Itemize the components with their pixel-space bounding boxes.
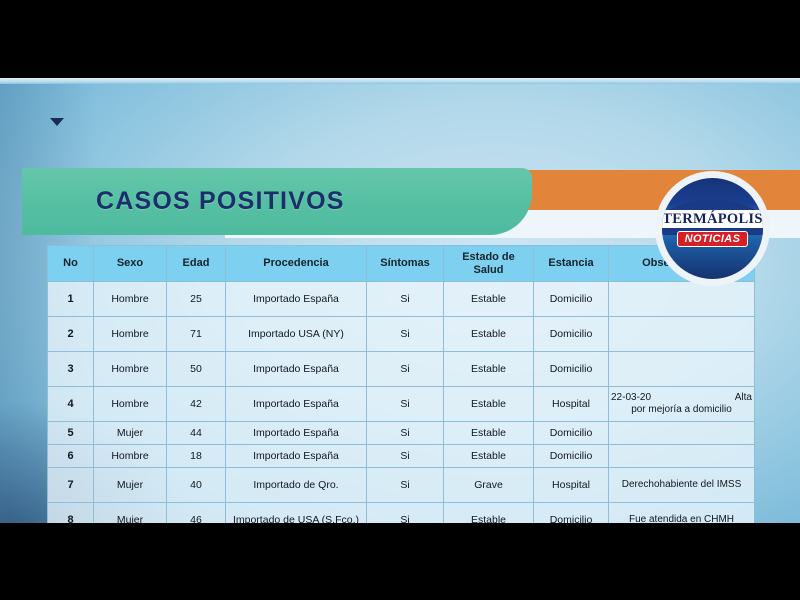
column-header-estado-salud: Estado de Salud — [444, 246, 534, 282]
cell-procedencia: Importado de USA (S.Fco.) — [226, 503, 367, 524]
logo-disc: TERMÁPOLIS NOTICIAS — [662, 178, 763, 279]
table-row: 1Hombre25Importado EspañaSiEstableDomici… — [48, 282, 755, 317]
cell-sintomas: Si — [367, 282, 444, 317]
cell-observaciones — [609, 352, 755, 387]
cell-edad: 40 — [167, 468, 226, 503]
cell-estado-salud: Estable — [444, 503, 534, 524]
cell-sexo: Hombre — [94, 387, 167, 422]
cell-observaciones: 22-03-20Altapor mejoría a domicilio — [609, 387, 755, 422]
cell-edad: 50 — [167, 352, 226, 387]
cell-estado-salud: Estable — [444, 352, 534, 387]
cell-observaciones — [609, 282, 755, 317]
cell-edad: 46 — [167, 503, 226, 524]
cases-table: No Sexo Edad Procedencia Síntomas Estado… — [47, 245, 755, 523]
cell-procedencia: Importado España — [226, 422, 367, 445]
cases-table-body: 1Hombre25Importado EspañaSiEstableDomici… — [48, 282, 755, 524]
table-header-row: No Sexo Edad Procedencia Síntomas Estado… — [48, 246, 755, 282]
cell-sintomas: Si — [367, 445, 444, 468]
cell-estancia: Domicilio — [534, 352, 609, 387]
cell-sexo: Mujer — [94, 422, 167, 445]
cell-no: 7 — [48, 468, 94, 503]
tv-screen: CASOS POSITIVOS No Sexo Edad Procedencia… — [0, 0, 800, 600]
cell-estado-salud: Grave — [444, 468, 534, 503]
observacion-status: Alta — [735, 392, 752, 404]
cell-procedencia: Importado USA (NY) — [226, 317, 367, 352]
slide-title-banner: CASOS POSITIVOS — [22, 168, 532, 235]
table-row: 6Hombre18Importado EspañaSiEstableDomici… — [48, 445, 755, 468]
cases-table-container: No Sexo Edad Procedencia Síntomas Estado… — [47, 245, 754, 523]
cell-sexo: Mujer — [94, 503, 167, 524]
cell-no: 1 — [48, 282, 94, 317]
cell-sintomas: Si — [367, 387, 444, 422]
cell-procedencia: Importado España — [226, 282, 367, 317]
observacion-date: 22-03-20 — [611, 392, 651, 404]
column-header-edad: Edad — [167, 246, 226, 282]
cell-observaciones — [609, 317, 755, 352]
cell-sintomas: Si — [367, 422, 444, 445]
cell-no: 6 — [48, 445, 94, 468]
cell-estancia: Hospital — [534, 468, 609, 503]
column-header-no: No — [48, 246, 94, 282]
logo-tagline-text: NOTICIAS — [677, 231, 749, 247]
column-header-procedencia: Procedencia — [226, 246, 367, 282]
cell-sexo: Hombre — [94, 282, 167, 317]
cell-sintomas: Si — [367, 503, 444, 524]
termapolis-logo: TERMÁPOLIS NOTICIAS — [655, 171, 770, 286]
cell-no: 4 — [48, 387, 94, 422]
table-row: 2Hombre71Importado USA (NY)SiEstableDomi… — [48, 317, 755, 352]
cell-sexo: Hombre — [94, 352, 167, 387]
cell-estancia: Domicilio — [534, 282, 609, 317]
cell-procedencia: Importado de Qro. — [226, 468, 367, 503]
contigo-bug-tail — [50, 118, 64, 126]
cell-edad: 18 — [167, 445, 226, 468]
column-header-sintomas: Síntomas — [367, 246, 444, 282]
cell-estancia: Hospital — [534, 387, 609, 422]
cell-observaciones — [609, 422, 755, 445]
cell-no: 8 — [48, 503, 94, 524]
table-row: 4Hombre42Importado EspañaSiEstableHospit… — [48, 387, 755, 422]
observacion-line-1: 22-03-20Alta — [611, 392, 752, 404]
cell-sexo: Mujer — [94, 468, 167, 503]
letterbox-bottom — [0, 523, 800, 600]
cell-edad: 44 — [167, 422, 226, 445]
cell-estado-salud: Estable — [444, 317, 534, 352]
cell-procedencia: Importado España — [226, 352, 367, 387]
cell-edad: 71 — [167, 317, 226, 352]
column-header-estancia: Estancia — [534, 246, 609, 282]
cell-sintomas: Si — [367, 352, 444, 387]
cell-estancia: Domicilio — [534, 317, 609, 352]
cell-no: 2 — [48, 317, 94, 352]
cell-observaciones: Derechohabiente del IMSS — [609, 468, 755, 503]
cell-edad: 42 — [167, 387, 226, 422]
cell-estancia: Domicilio — [534, 503, 609, 524]
cell-no: 3 — [48, 352, 94, 387]
cell-procedencia: Importado España — [226, 387, 367, 422]
cell-estado-salud: Estable — [444, 445, 534, 468]
cell-edad: 25 — [167, 282, 226, 317]
logo-brand-text: TERMÁPOLIS — [662, 210, 763, 228]
table-row: 5Mujer44Importado EspañaSiEstableDomicil… — [48, 422, 755, 445]
cell-no: 5 — [48, 422, 94, 445]
column-header-sexo: Sexo — [94, 246, 167, 282]
cell-estancia: Domicilio — [534, 422, 609, 445]
cell-sexo: Hombre — [94, 445, 167, 468]
slide-top-edge — [0, 78, 800, 84]
observacion-line-2: por mejoría a domicilio — [611, 404, 752, 416]
table-row: 3Hombre50Importado EspañaSiEstableDomici… — [48, 352, 755, 387]
cell-sexo: Hombre — [94, 317, 167, 352]
page-title: CASOS POSITIVOS — [96, 187, 345, 216]
cell-procedencia: Importado España — [226, 445, 367, 468]
cell-estado-salud: Estable — [444, 422, 534, 445]
cell-observaciones — [609, 445, 755, 468]
cell-observaciones: Fue atendida en CHMH — [609, 503, 755, 524]
cell-sintomas: Si — [367, 468, 444, 503]
cell-estancia: Domicilio — [534, 445, 609, 468]
cell-estado-salud: Estable — [444, 387, 534, 422]
table-row: 7Mujer40Importado de Qro.SiGraveHospital… — [48, 468, 755, 503]
cell-sintomas: Si — [367, 317, 444, 352]
table-row: 8Mujer46Importado de USA (S.Fco.)SiEstab… — [48, 503, 755, 524]
broadcast-slide: CASOS POSITIVOS No Sexo Edad Procedencia… — [0, 78, 800, 523]
letterbox-top — [0, 0, 800, 78]
cell-estado-salud: Estable — [444, 282, 534, 317]
